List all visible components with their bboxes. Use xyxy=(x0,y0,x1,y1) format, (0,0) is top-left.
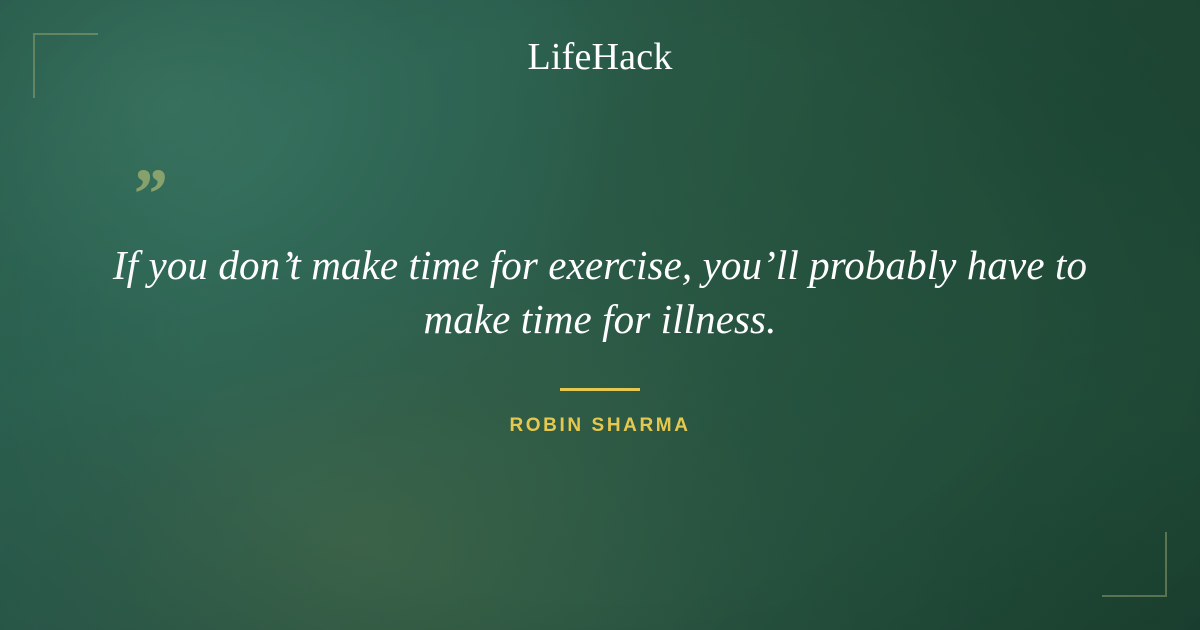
corner-bracket-bottom-right-icon xyxy=(1102,532,1167,597)
quotation-mark-icon: ” xyxy=(130,158,166,230)
quote-content: ” If you don’t make time for exercise, y… xyxy=(0,150,1200,437)
quote-card: LifeHack ” If you don’t make time for ex… xyxy=(0,0,1200,630)
quote-author: ROBIN SHARMA xyxy=(0,415,1200,437)
brand-logo: LifeHack xyxy=(0,38,1200,76)
gold-divider xyxy=(560,388,640,391)
quote-text: If you don’t make time for exercise, you… xyxy=(100,238,1100,346)
